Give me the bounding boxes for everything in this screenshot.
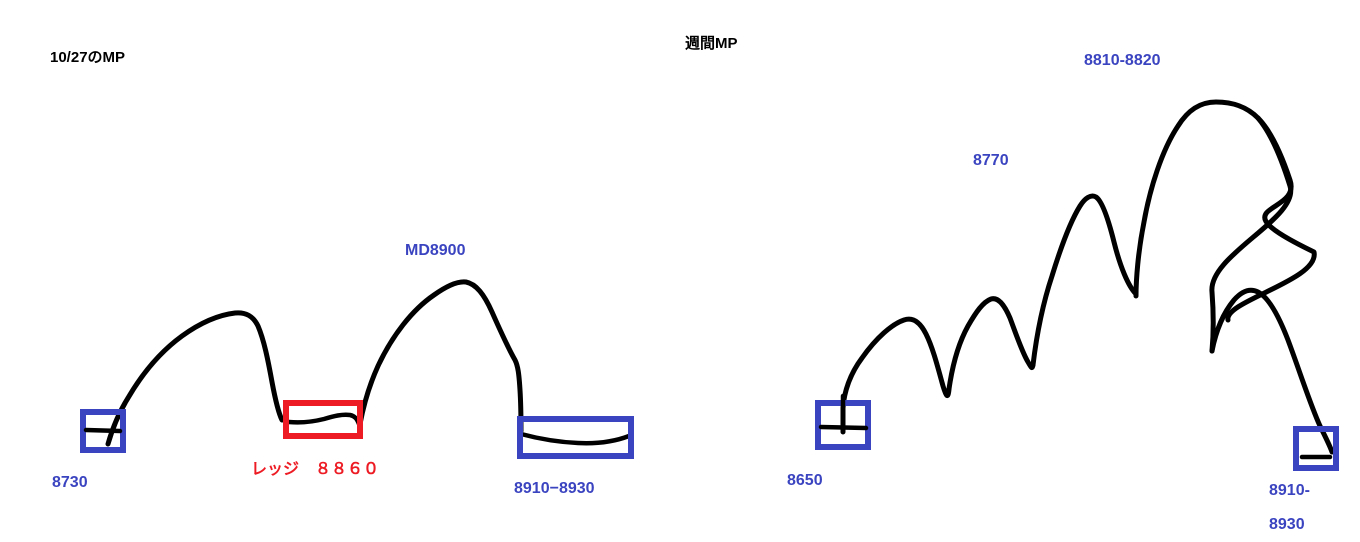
panel-daily-mp: 10/27のMP MD8900 8730 レッジ ８８６０ 8910−8930 [0, 0, 680, 531]
weekly-top-peak-label: 8810-8820 [1084, 50, 1161, 72]
weekly-high-box-label-line1: 8910- [1269, 474, 1310, 508]
weekly-low-box-label: 8650 [787, 470, 823, 492]
daily-lowbox-line [86, 430, 120, 431]
daily-profile-drawing [0, 0, 680, 531]
weekly-mid-peak-label: 8770 [973, 150, 1009, 172]
daily-ledge-line [289, 415, 359, 424]
weekly-curve-peak-4 [1136, 102, 1314, 320]
daily-peak-label: MD8900 [405, 240, 465, 262]
daily-low-box-label: 8730 [52, 472, 88, 494]
daily-curve-hump-left [108, 313, 282, 444]
daily-high-box-label: 8910−8930 [514, 478, 595, 500]
weekly-high-box-label-line2: 8930 [1269, 508, 1310, 542]
weekly-high-box-label: 8910- 8930 [1269, 474, 1310, 542]
weekly-curve-peak-3 [1033, 196, 1136, 365]
weekly-profile-drawing [680, 0, 1360, 531]
panel-weekly-mp: 週間MP 8810-8820 8770 8650 [680, 0, 1360, 531]
daily-ledge-label: レッジ ８８６０ [251, 455, 379, 479]
drawing-canvas: 10/27のMP MD8900 8730 レッジ ８８６０ 8910−8930 [0, 0, 1360, 531]
daily-curve-hump-right [360, 282, 521, 431]
weekly-curve-peak-2 [949, 299, 1033, 389]
daily-base-line [521, 434, 629, 443]
weekly-curve-peak-1 [843, 319, 949, 432]
